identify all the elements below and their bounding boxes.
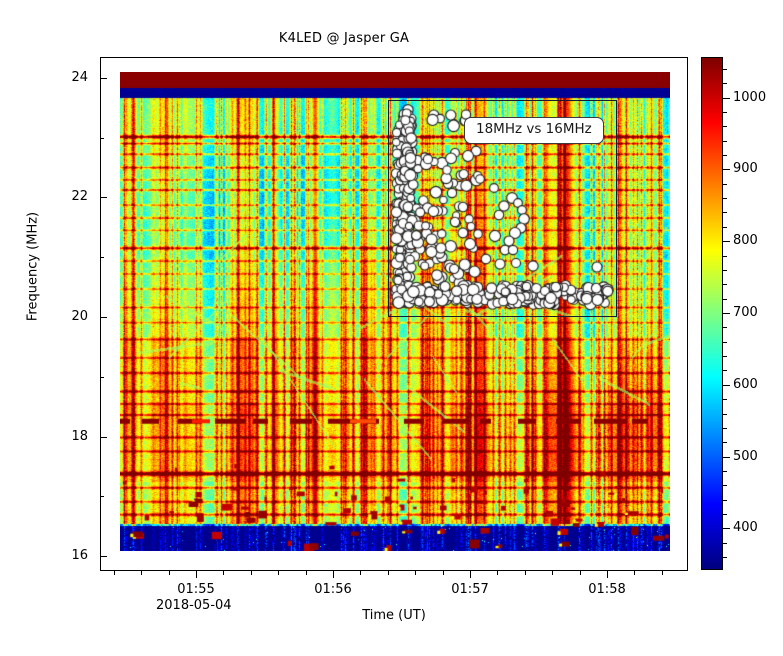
x-minor-tick	[525, 571, 526, 575]
x-minor-tick	[360, 571, 361, 575]
y-tick-label-18: 18	[58, 429, 88, 444]
y-tick-22	[100, 197, 107, 198]
colorbar-minor-tick	[723, 284, 727, 285]
spectrogram-figure: K4LED @ Jasper GA 18MHz vs 16MHz Frequen…	[0, 0, 783, 656]
x-minor-tick	[388, 571, 389, 575]
colorbar-tick-label-600: 600	[733, 377, 758, 392]
colorbar-minor-tick	[723, 69, 727, 70]
y-minor-tick	[100, 377, 104, 378]
colorbar-minor-tick	[723, 399, 727, 400]
colorbar-minor-tick	[723, 514, 727, 515]
x-minor-tick	[114, 571, 115, 575]
x-tick-01:55	[196, 571, 197, 578]
colorbar-minor-tick	[723, 141, 727, 142]
x-minor-tick	[552, 571, 553, 575]
x-tick-01:56	[333, 571, 334, 578]
colorbar-minor-tick	[723, 442, 727, 443]
colorbar-tick-label-800: 800	[733, 233, 758, 248]
colorbar-minor-tick	[723, 414, 727, 415]
colorbar-minor-tick	[723, 299, 727, 300]
colorbar-tick-600	[723, 385, 730, 386]
x-minor-tick	[141, 571, 142, 575]
x-tick-label-01:55: 01:55	[156, 582, 236, 597]
y-minor-tick	[100, 138, 104, 139]
x-minor-tick	[580, 571, 581, 575]
x-minor-tick	[662, 571, 663, 575]
colorbar-tick-label-500: 500	[733, 449, 758, 464]
x-minor-tick	[443, 571, 444, 575]
y-tick-18	[100, 437, 107, 438]
page-title: K4LED @ Jasper GA	[0, 31, 688, 46]
y-axis-label: Frequency (MHz)	[26, 187, 41, 347]
x-tick-label-01:57: 01:57	[430, 582, 510, 597]
colorbar-minor-tick	[723, 370, 727, 371]
colorbar-minor-tick	[723, 155, 727, 156]
colorbar-minor-tick	[723, 126, 727, 127]
colorbar-minor-tick	[723, 471, 727, 472]
colorbar-minor-tick	[723, 227, 727, 228]
x-tick-label-01:56: 01:56	[293, 582, 373, 597]
colorbar-tick-700	[723, 313, 730, 314]
x-tick-label-01:58: 01:58	[567, 582, 647, 597]
annotation-label: 18MHz vs 16MHz	[464, 117, 604, 144]
colorbar-gradient	[701, 57, 723, 570]
x-minor-tick	[251, 571, 252, 575]
colorbar-tick-label-700: 700	[733, 305, 758, 320]
x-minor-tick	[497, 571, 498, 575]
colorbar-minor-tick	[723, 342, 727, 343]
y-tick-label-16: 16	[58, 548, 88, 563]
colorbar-minor-tick	[723, 500, 727, 501]
colorbar-tick-500	[723, 457, 730, 458]
colorbar-tick-800	[723, 241, 730, 242]
colorbar-minor-tick	[723, 198, 727, 199]
y-tick-16	[100, 556, 107, 557]
colorbar-minor-tick	[723, 112, 727, 113]
colorbar-minor-tick	[723, 557, 727, 558]
colorbar-minor-tick	[723, 543, 727, 544]
colorbar-minor-tick	[723, 184, 727, 185]
x-minor-tick	[278, 571, 279, 575]
y-tick-label-24: 24	[58, 70, 88, 85]
colorbar-minor-tick	[723, 485, 727, 486]
x-axis-label: Time (UT)	[100, 608, 688, 623]
colorbar-tick-label-900: 900	[733, 161, 758, 176]
colorbar-minor-tick	[723, 356, 727, 357]
colorbar-minor-tick	[723, 212, 727, 213]
colorbar-tick-1000	[723, 98, 730, 99]
x-minor-tick	[223, 571, 224, 575]
colorbar-tick-label-1000: 1000	[733, 90, 766, 105]
y-tick-label-20: 20	[58, 309, 88, 324]
colorbar-minor-tick	[723, 327, 727, 328]
y-tick-24	[100, 78, 107, 79]
x-tick-01:57	[470, 571, 471, 578]
x-minor-tick	[306, 571, 307, 575]
colorbar-minor-tick	[723, 256, 727, 257]
x-minor-tick	[634, 571, 635, 575]
colorbar-minor-tick	[723, 83, 727, 84]
colorbar-tick-400	[723, 528, 730, 529]
y-tick-20	[100, 317, 107, 318]
x-minor-tick	[169, 571, 170, 575]
x-tick-01:58	[607, 571, 608, 578]
colorbar-tick-label-400: 400	[733, 520, 758, 535]
y-minor-tick	[100, 496, 104, 497]
colorbar-minor-tick	[723, 270, 727, 271]
y-minor-tick	[100, 257, 104, 258]
colorbar-minor-tick	[723, 428, 727, 429]
colorbar-tick-900	[723, 169, 730, 170]
y-tick-label-22: 22	[58, 189, 88, 204]
x-minor-tick	[415, 571, 416, 575]
